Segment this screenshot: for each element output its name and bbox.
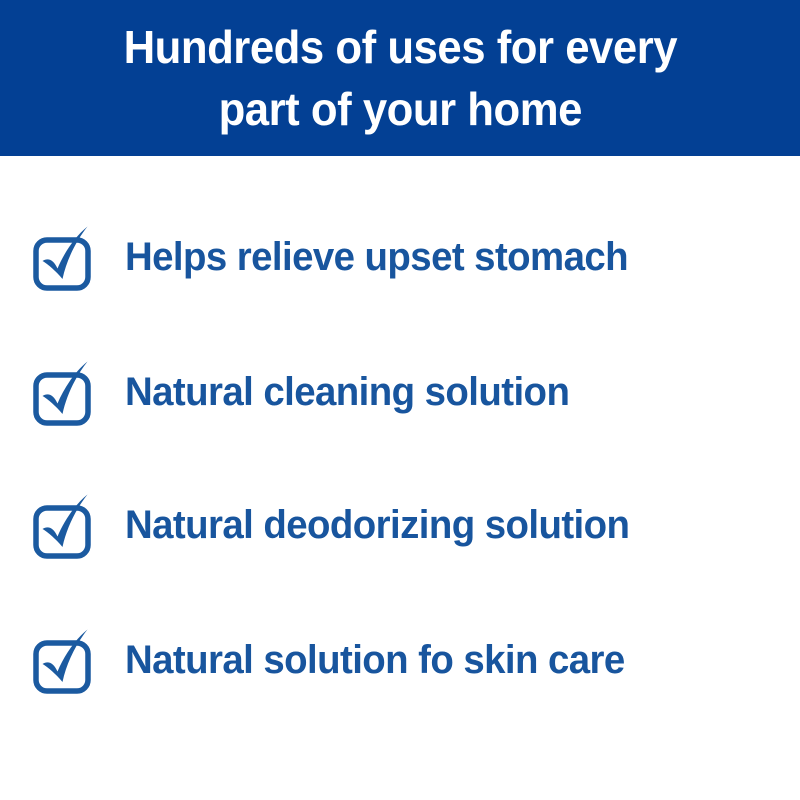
checkbox-checked-icon	[30, 622, 94, 698]
header-title-line-1: Hundreds of uses for every	[123, 16, 676, 78]
checkbox-checked-icon	[30, 354, 94, 430]
list-item-label: Helps relieve upset stomach	[125, 234, 628, 280]
list-item-label: Natural solution fo skin care	[125, 637, 625, 683]
list-item: Natural solution fo skin care	[30, 622, 790, 698]
list-item-label: Natural cleaning solution	[125, 369, 569, 415]
benefits-checklist: Helps relieve upset stomach Natural clea…	[0, 156, 800, 800]
promo-graphic: Hundreds of uses for every part of your …	[0, 0, 800, 800]
list-item: Helps relieve upset stomach	[30, 219, 790, 295]
list-item: Natural deodorizing solution	[30, 487, 790, 563]
list-item-label: Natural deodorizing solution	[125, 502, 629, 548]
checkbox-checked-icon	[30, 219, 94, 295]
checkbox-checked-icon	[30, 487, 94, 563]
header-title-line-2: part of your home	[218, 78, 581, 140]
header-banner: Hundreds of uses for every part of your …	[0, 0, 800, 156]
list-item: Natural cleaning solution	[30, 354, 790, 430]
